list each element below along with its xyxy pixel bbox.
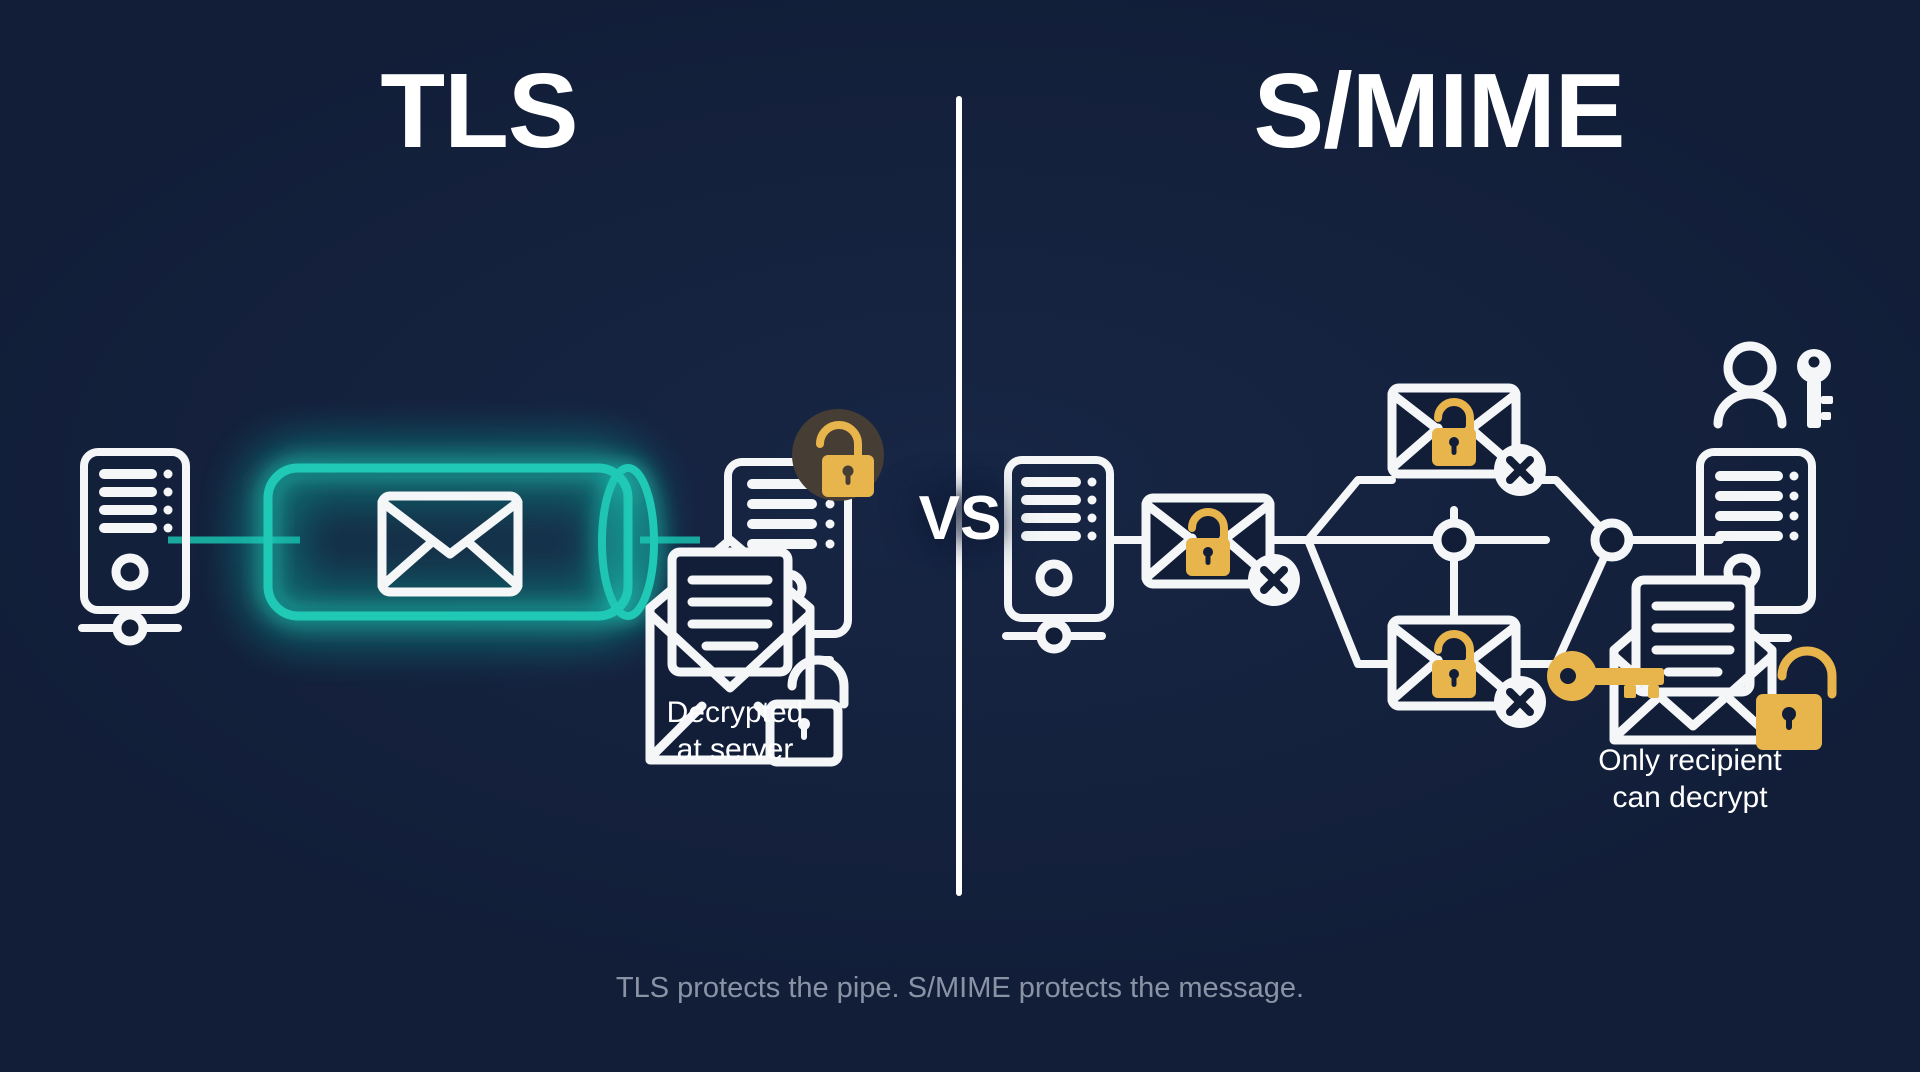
footer-tagline: TLS protects the pipe. S/MIME protects t… [0, 972, 1920, 1005]
network-node-icon [1595, 523, 1629, 557]
unlocked-padlock-badge-icon [792, 409, 884, 501]
blocked-badge-x-icon [1248, 554, 1300, 606]
caption-only-recipient-can-decrypt: Only recipient can decrypt [1470, 742, 1910, 816]
server-icon [82, 452, 186, 641]
infographic-canvas: TLS S/MIME VS [0, 0, 1920, 1072]
caption-decrypted-at-server: Decrypted at server [560, 694, 910, 768]
open-envelope-with-letter-icon [1614, 580, 1772, 740]
locked-envelope-icon [1146, 498, 1300, 606]
locked-envelope-icon [1392, 388, 1546, 496]
smime-diagram [960, 0, 1920, 1072]
blocked-badge-x-icon [1494, 444, 1546, 496]
blocked-badge-x-icon [1494, 676, 1546, 728]
versus-label: VS [895, 488, 1025, 550]
locked-envelope-icon [1392, 620, 1546, 728]
tls-diagram [0, 0, 960, 1072]
person-icon [1718, 346, 1782, 424]
network-node-icon [1437, 523, 1471, 557]
key-icon [1797, 349, 1833, 428]
